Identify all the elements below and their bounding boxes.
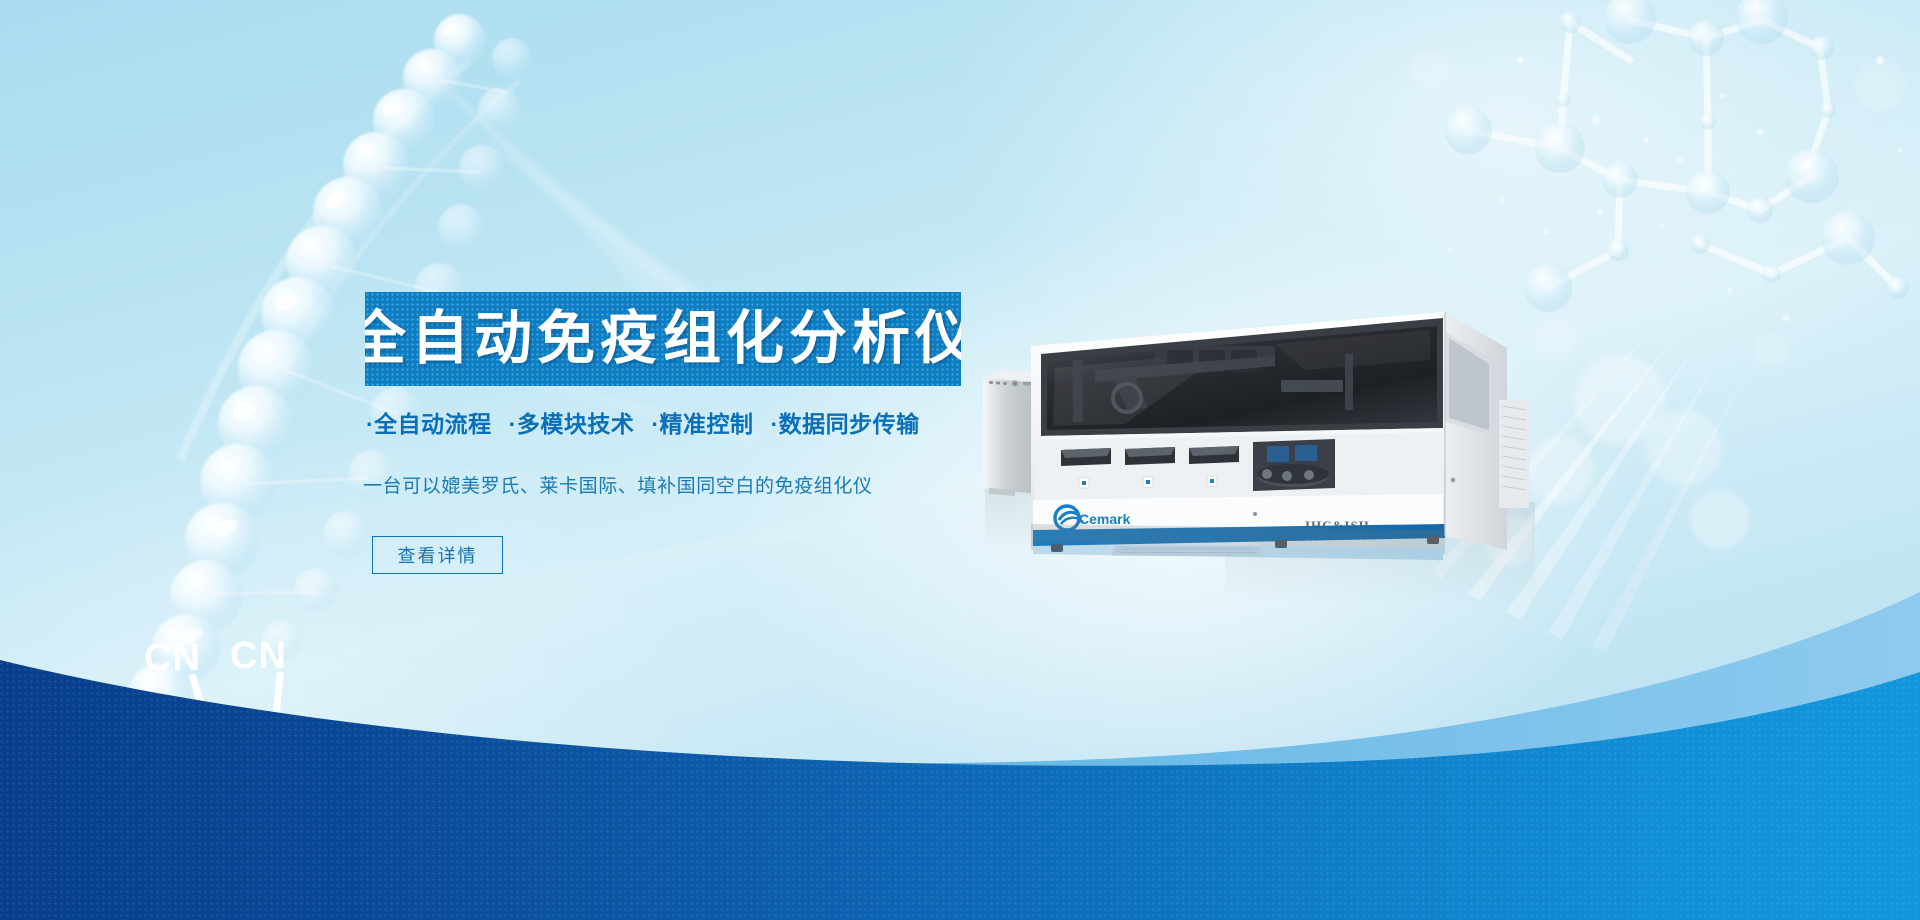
feature-item-1: ·全自动流程	[366, 411, 492, 437]
feature-list: ·全自动流程·多模块技术·精准控制·数据同步传输	[366, 405, 966, 439]
feature-item-4: ·数据同步传输	[771, 411, 920, 437]
feature-item-2: ·多模块技术	[509, 411, 635, 437]
view-details-button[interactable]: 查看详情	[372, 536, 503, 574]
feature-item-3: ·精准控制	[651, 411, 753, 437]
page-title: 全自动免疫组化分析仪	[365, 310, 961, 368]
hero-banner: Cemark IHC&ISH IHC&ISH	[0, 0, 1920, 920]
hero-subtitle: 一台可以媲美罗氏、莱卡国际、填补国同空白的免疫组化仪	[363, 471, 873, 498]
hero-title-box: 全自动免疫组化分析仪	[365, 292, 961, 386]
bottom-wave-decoration	[0, 500, 1920, 920]
